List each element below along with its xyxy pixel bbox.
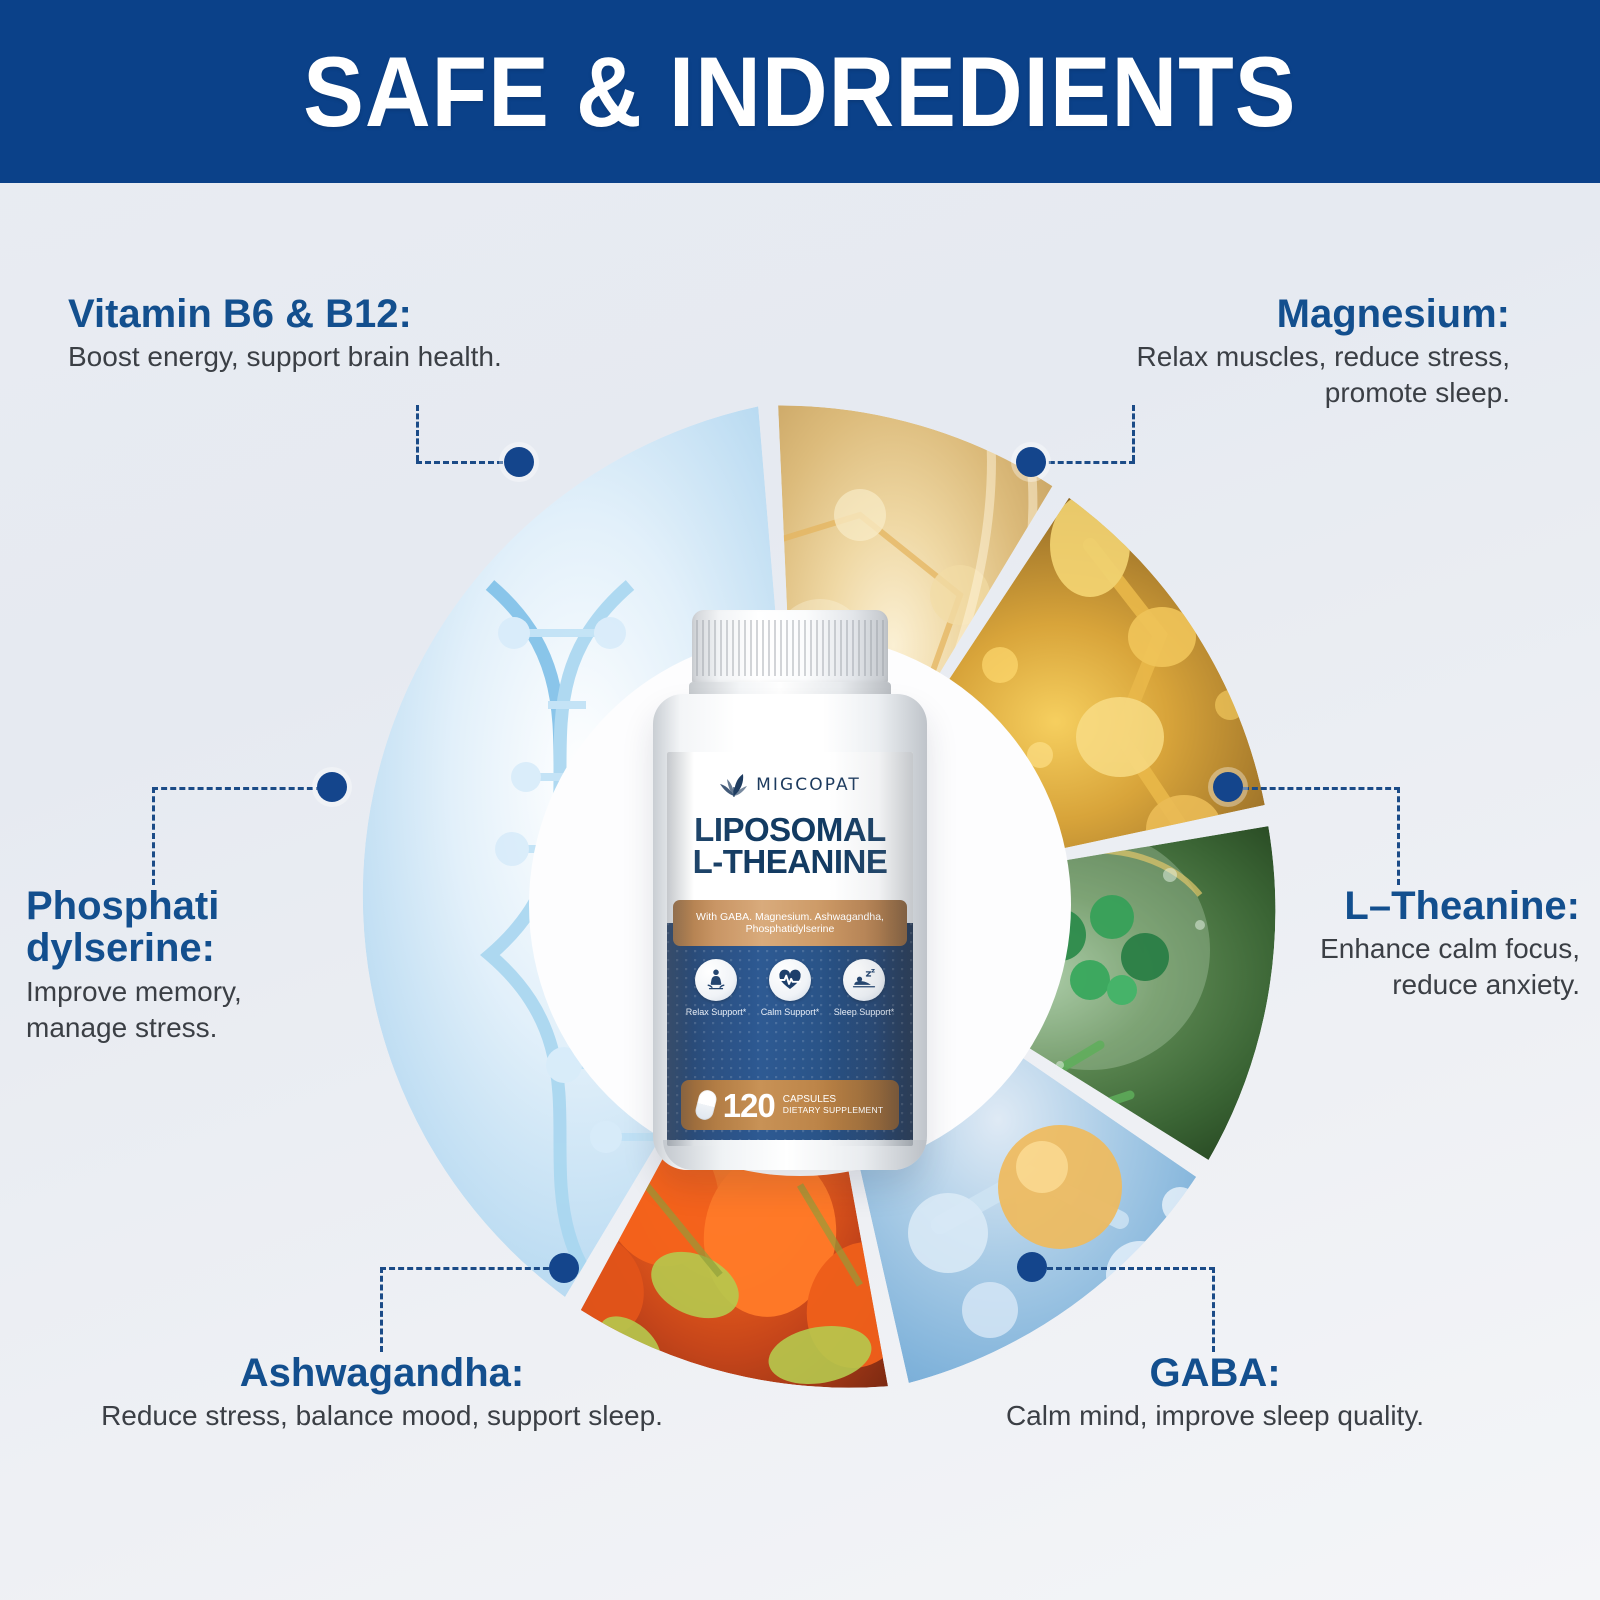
support-claim-sleep: Sleep Support* [829,959,899,1017]
label-subtitle-line2: Phosphatidylserine [746,923,835,935]
callout-phosphatidylserine: Phosphati dylserine: Improve memory, man… [26,885,356,1045]
callout-vitamin-b6-b12: Vitamin B6 & B12: Boost energy, support … [68,293,588,375]
callout-desc: Calm mind, improve sleep quality. [930,1398,1500,1434]
connector-theanine-h [1243,787,1400,790]
connector-phospha-v [152,787,155,885]
callout-desc: Boost energy, support brain health. [68,339,588,375]
connector-theanine-v [1397,787,1400,885]
brand-name: MIGCOPAT [756,775,861,795]
callout-title: Ashwagandha: [52,1352,712,1394]
label-subtitle-line1: With GABA. Magnesium. Ashwagandha, [696,911,884,923]
dot-ashwagandha[interactable] [549,1253,579,1283]
connector-magnesium-h [1031,461,1135,464]
page-title: SAFE & INDREDIENTS [303,42,1296,141]
capsule-count-band: 120 CAPSULES DIETARY SUPPLEMENT [681,1080,899,1130]
header-bar: SAFE & INDREDIENTS [0,0,1600,183]
dot-magnesium[interactable] [1016,447,1046,477]
callout-ashwagandha: Ashwagandha: Reduce stress, balance mood… [52,1352,712,1434]
dot-vitamin-b6-b12[interactable] [504,447,534,477]
label-subtitle-band: With GABA. Magnesium. Ashwagandha, Phosp… [673,900,907,946]
support-label: Relax Support* [686,1007,747,1017]
capsule-count: 120 [723,1089,775,1122]
heartbeat-icon [769,959,811,1001]
capsule-subtitle: DIETARY SUPPLEMENT [783,1106,884,1116]
callout-title: GABA: [930,1352,1500,1394]
bottle-base [663,1140,927,1170]
callout-l-theanine: L–Theanine: Enhance calm focus, reduce a… [1180,885,1580,1003]
product-title-line2: L-THEANINE [667,846,913,878]
bottle-shoulder [653,694,927,750]
meditation-icon [695,959,737,1001]
callout-title: Magnesium: [1010,293,1510,335]
dot-l-theanine[interactable] [1213,772,1243,802]
capsule-icon [693,1088,718,1121]
product-bottle: MIGCOPAT LIPOSOMAL L-THEANINE [645,610,935,1170]
dot-gaba[interactable] [1017,1252,1047,1282]
connector-phospha-h [152,787,322,790]
callout-title: L–Theanine: [1180,885,1580,927]
callout-desc: Reduce stress, balance mood, support sle… [52,1398,712,1434]
capsule-unit: CAPSULES [783,1094,836,1105]
connector-magnesium-v [1132,405,1135,461]
support-claims-row: Relax Support* Calm Support* [667,959,913,1017]
callout-desc: Relax muscles, reduce stress, promote sl… [1010,339,1510,411]
bottle-label: MIGCOPAT LIPOSOMAL L-THEANINE [667,752,913,1146]
brand-lockup: MIGCOPAT [667,772,913,798]
support-claim-calm: Calm Support* [755,959,825,1017]
bottle-cap [692,610,888,686]
connector-ashwagandha-h [380,1267,558,1270]
infographic-page: SAFE & INDREDIENTS [0,0,1600,1600]
callout-desc: Enhance calm focus, reduce anxiety. [1180,931,1580,1003]
callout-gaba: GABA: Calm mind, improve sleep quality. [930,1352,1500,1434]
callout-title: Phosphati dylserine: [26,885,356,970]
support-label: Sleep Support* [834,1007,895,1017]
connector-gaba-h [1047,1267,1215,1270]
support-label: Calm Support* [761,1007,820,1017]
product-title: LIPOSOMAL L-THEANINE [667,814,913,879]
connector-ashwagandha-v [380,1267,383,1352]
bottle-body: MIGCOPAT LIPOSOMAL L-THEANINE [653,694,927,1170]
callout-magnesium: Magnesium: Relax muscles, reduce stress,… [1010,293,1510,411]
callout-desc: Improve memory, manage stress. [26,974,356,1046]
connector-gaba-v [1212,1267,1215,1352]
leaf-burst-icon [719,772,749,798]
callout-title: Vitamin B6 & B12: [68,293,588,335]
label-navy-section: Relax Support* Calm Support* [667,923,913,1146]
capsule-unit-block: CAPSULES DIETARY SUPPLEMENT [783,1094,884,1115]
support-claim-relax: Relax Support* [681,959,751,1017]
sleeping-person-icon [843,959,885,1001]
dot-phosphatidylserine[interactable] [317,772,347,802]
connector-vitamin-v [416,405,419,461]
